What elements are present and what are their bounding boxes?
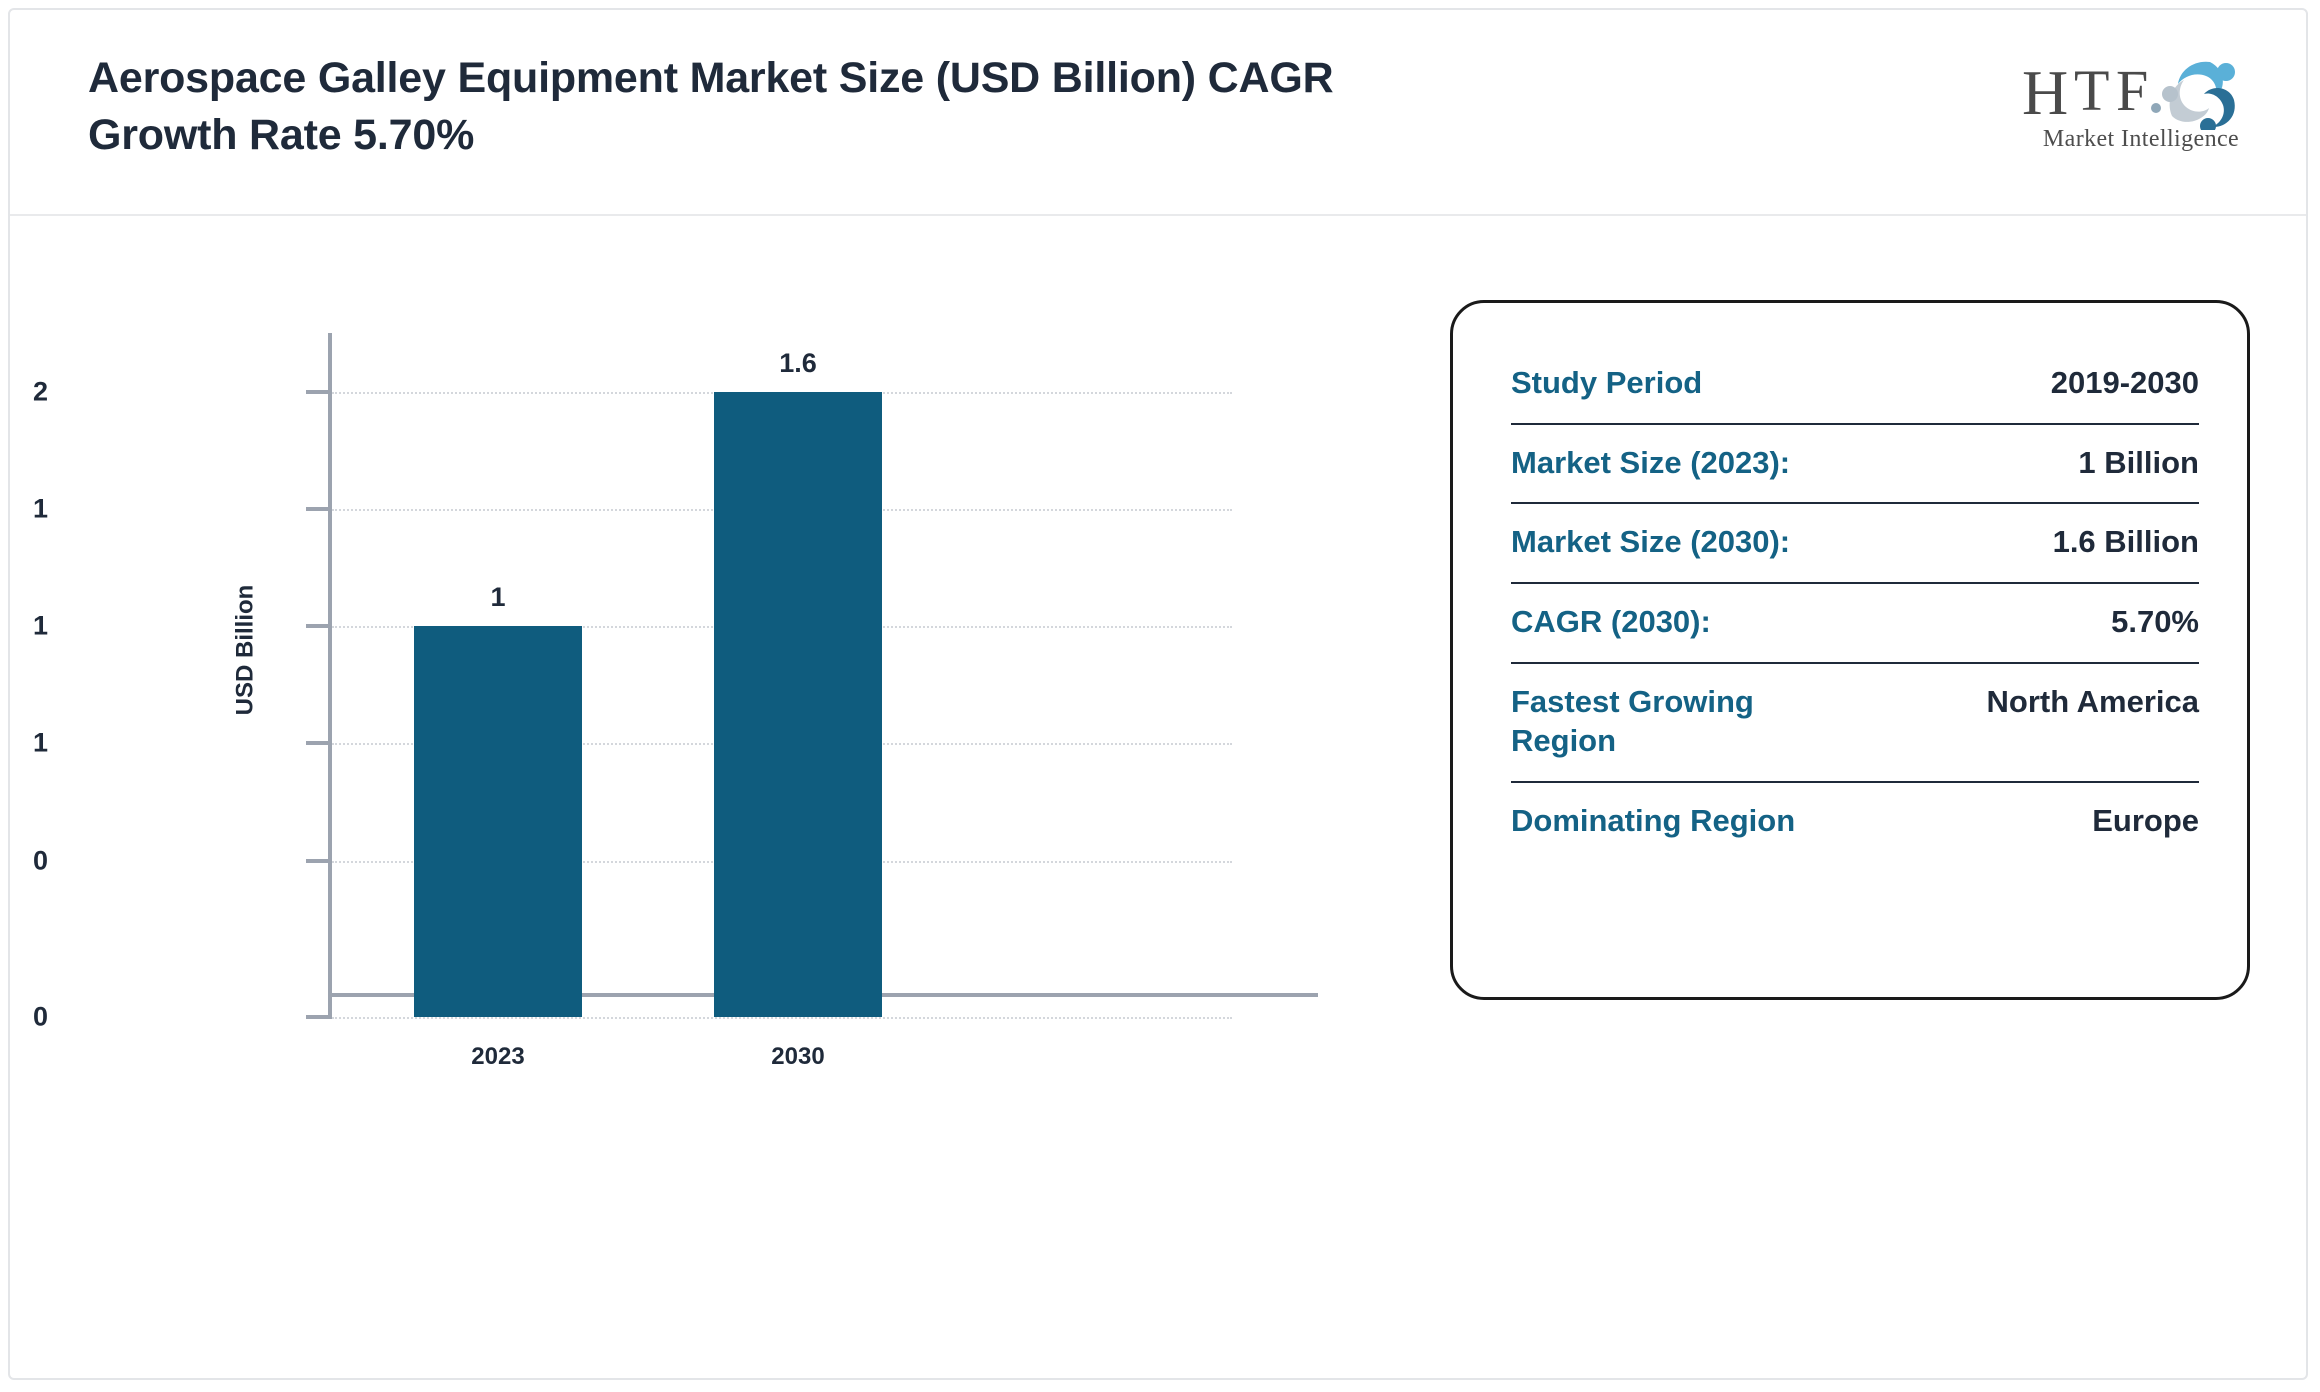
summary-row-label: Dominating Region [1511, 801, 1795, 841]
card-header: Aerospace Galley Equipment Market Size (… [10, 10, 2306, 216]
summary-row-value: Europe [2092, 801, 2199, 841]
summary-row: Dominating RegionEurope [1511, 783, 2199, 861]
bar[interactable] [414, 626, 582, 1017]
summary-row-value: 5.70% [2111, 602, 2199, 642]
summary-rows: Study Period2019-2030Market Size (2023):… [1511, 359, 2199, 957]
summary-row-label: CAGR (2030): [1511, 602, 1711, 642]
summary-row: Market Size (2030):1.6 Billion [1511, 504, 2199, 584]
bar-value-label: 1 [490, 582, 505, 613]
bar-chart: USD Billion 211100 11.6 20232030 [80, 250, 1410, 1250]
y-axis-tick-label: 1 [0, 493, 48, 524]
y-axis-tick-label: 0 [0, 1002, 48, 1033]
y-axis-tick-mark [306, 741, 332, 745]
logo-subtitle: Market Intelligence [2016, 126, 2266, 153]
screenshot-root: Aerospace Galley Equipment Market Size (… [0, 0, 2320, 1392]
summary-row-label: Study Period [1511, 363, 1702, 403]
summary-row-label: Fastest Growing Region [1511, 682, 1841, 761]
y-axis-tick-label: 1 [0, 611, 48, 642]
gridline [332, 1017, 1232, 1019]
report-card: Aerospace Galley Equipment Market Size (… [8, 8, 2308, 1380]
market-summary-panel: Study Period2019-2030Market Size (2023):… [1450, 300, 2250, 1000]
summary-row-label: Market Size (2023): [1511, 443, 1790, 483]
summary-row-value: 1 Billion [2078, 443, 2199, 483]
y-axis-tick-label: 1 [0, 728, 48, 759]
y-axis-tick-mark [306, 1015, 332, 1019]
summary-row-value: 2019-2030 [2051, 363, 2199, 403]
summary-row-value: North America [1987, 682, 2199, 722]
htf-logo: H T F Market Intelligence [2016, 40, 2266, 170]
summary-row-value: 1.6 Billion [2053, 522, 2199, 562]
bar-value-label: 1.6 [779, 348, 817, 379]
x-axis-tick-label: 2030 [771, 1043, 824, 1071]
y-axis-tick-mark [306, 624, 332, 628]
page-title: Aerospace Galley Equipment Market Size (… [88, 50, 1488, 164]
svg-text:T: T [2074, 58, 2109, 123]
summary-row: Fastest Growing RegionNorth America [1511, 664, 2199, 783]
svg-text:F: F [2116, 58, 2148, 123]
y-axis-tick-mark [306, 507, 332, 511]
svg-text:H: H [2022, 57, 2068, 128]
y-axis-title: USD Billion [231, 585, 259, 716]
bar[interactable] [714, 392, 882, 1017]
y-axis-tick-label: 2 [0, 376, 48, 407]
htf-logo-mark: H T F [2016, 52, 2266, 130]
summary-row: Study Period2019-2030 [1511, 359, 2199, 425]
y-axis-tick-label: 0 [0, 845, 48, 876]
summary-row-label: Market Size (2030): [1511, 522, 1790, 562]
x-axis-tick-label: 2023 [471, 1043, 524, 1071]
summary-row: Market Size (2023):1 Billion [1511, 425, 2199, 505]
plot-area: USD Billion 211100 11.6 20232030 [240, 305, 1320, 995]
y-axis-tick-mark [306, 390, 332, 394]
summary-row: CAGR (2030):5.70% [1511, 584, 2199, 664]
y-axis-line [328, 333, 332, 1017]
y-axis-tick-mark [306, 859, 332, 863]
